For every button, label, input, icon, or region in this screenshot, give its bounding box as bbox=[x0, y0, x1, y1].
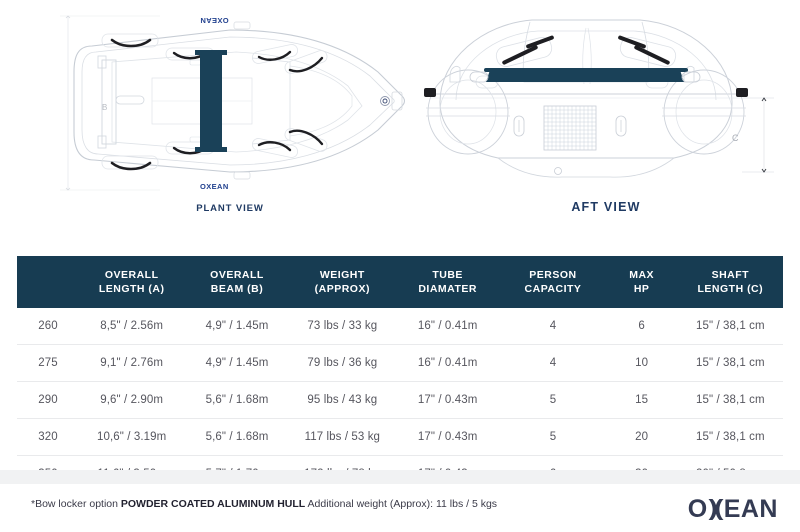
cell-weight: 95 lbs / 43 kg bbox=[290, 382, 395, 419]
cell-model: 260 bbox=[17, 308, 79, 345]
cell-person-capacity: 5 bbox=[500, 419, 605, 456]
cell-overall-length: 8,5" / 2.56m bbox=[79, 308, 184, 345]
aft-view-drawing: AFT VIEW bbox=[412, 0, 800, 240]
footer-note-suffix: Additional weight (Approx): 11 lbs / 5 k… bbox=[305, 498, 497, 510]
tube-logo-top-text: OXEAN bbox=[200, 16, 229, 25]
cell-shaft-length: 15" / 38,1 cm bbox=[678, 419, 783, 456]
footer-note: *Bow locker option POWDER COATED ALUMINU… bbox=[31, 497, 497, 513]
plant-view-caption: PLANT VIEW bbox=[40, 203, 420, 214]
dimension-label-b: B bbox=[102, 103, 107, 112]
brand-logo-ean: EAN bbox=[724, 497, 778, 522]
specifications-table: OVERALL LENGTH (A) OVERALL BEAM (B) WEIG… bbox=[17, 256, 783, 493]
cell-tube-diameter: 16" / 0.41m bbox=[395, 308, 500, 345]
column-header-person-capacity: PERSON CAPACITY bbox=[500, 256, 605, 308]
header-line-1: OVERALL bbox=[81, 268, 182, 282]
header-line-1: TUBE bbox=[397, 268, 498, 282]
cell-person-capacity: 5 bbox=[500, 382, 605, 419]
cell-shaft-length: 15" / 38,1 cm bbox=[678, 308, 783, 345]
column-header-shaft-length: SHAFT LENGTH (C) bbox=[678, 256, 783, 308]
header-line-2: BEAM (B) bbox=[186, 282, 287, 296]
table-header: OVERALL LENGTH (A) OVERALL BEAM (B) WEIG… bbox=[17, 256, 783, 308]
footer-note-prefix: *Bow locker option bbox=[31, 498, 121, 510]
brand-logo-x-icon bbox=[707, 497, 725, 522]
table-body: 260 8,5" / 2.56m 4,9" / 1.45m 73 lbs / 3… bbox=[17, 308, 783, 493]
header-line-2: CAPACITY bbox=[502, 282, 603, 296]
header-line-2: LENGTH (C) bbox=[680, 282, 781, 296]
cell-model: 320 bbox=[17, 419, 79, 456]
cell-model: 290 bbox=[17, 382, 79, 419]
cell-weight: 117 lbs / 53 kg bbox=[290, 419, 395, 456]
header-line-2: (APPROX) bbox=[292, 282, 393, 296]
cell-tube-diameter: 17" / 0.43m bbox=[395, 382, 500, 419]
cell-max-hp: 6 bbox=[606, 308, 678, 345]
column-header-overall-length: OVERALL LENGTH (A) bbox=[79, 256, 184, 308]
cell-overall-length: 9,6" / 2.90m bbox=[79, 382, 184, 419]
cell-max-hp: 15 bbox=[606, 382, 678, 419]
header-line-1: MAX bbox=[608, 268, 676, 282]
tube-logo-bottom-text: OXEAN bbox=[200, 182, 229, 191]
cell-weight: 79 lbs / 36 kg bbox=[290, 345, 395, 382]
column-header-max-hp: MAX HP bbox=[606, 256, 678, 308]
specifications-table-wrapper: OVERALL LENGTH (A) OVERALL BEAM (B) WEIG… bbox=[17, 256, 783, 493]
column-header-weight: WEIGHT (APPROX) bbox=[290, 256, 395, 308]
header-line-2: DIAMATER bbox=[397, 282, 498, 296]
cell-overall-beam: 5,6" / 1.68m bbox=[184, 382, 289, 419]
header-line-1: WEIGHT bbox=[292, 268, 393, 282]
cell-overall-beam: 5,6" / 1.68m bbox=[184, 419, 289, 456]
cell-weight: 73 lbs / 33 kg bbox=[290, 308, 395, 345]
technical-drawings-area: B OXEAN OXEAN PLANT VIEW bbox=[0, 0, 800, 240]
cell-max-hp: 10 bbox=[606, 345, 678, 382]
table-row: 320 10,6" / 3.19m 5,6" / 1.68m 117 lbs /… bbox=[17, 419, 783, 456]
cell-overall-beam: 4,9" / 1.45m bbox=[184, 345, 289, 382]
header-line-2: HP bbox=[608, 282, 676, 296]
aft-grab-handles bbox=[424, 36, 748, 97]
aft-seat-bar bbox=[484, 68, 688, 82]
cell-shaft-length: 15" / 38,1 cm bbox=[678, 345, 783, 382]
cell-person-capacity: 4 bbox=[500, 345, 605, 382]
brand-logo-o: O bbox=[688, 497, 708, 522]
header-line-1: PERSON bbox=[502, 268, 603, 282]
tube-logo-bottom: OXEAN bbox=[200, 182, 229, 191]
header-line-2: LENGTH (A) bbox=[81, 282, 182, 296]
dimension-label-c: C bbox=[732, 133, 739, 143]
table-row: 275 9,1" / 2.76m 4,9" / 1.45m 79 lbs / 3… bbox=[17, 345, 783, 382]
header-line-1: OVERALL bbox=[186, 268, 287, 282]
column-header-overall-beam: OVERALL BEAM (B) bbox=[184, 256, 289, 308]
column-header-tube-diameter: TUBE DIAMATER bbox=[395, 256, 500, 308]
cell-tube-diameter: 17" / 0.43m bbox=[395, 419, 500, 456]
footer-note-bold: POWDER COATED ALUMINUM HULL bbox=[121, 498, 305, 510]
aft-view-caption: AFT VIEW bbox=[412, 200, 800, 214]
aft-view-svg bbox=[412, 0, 800, 200]
brand-logo: O EAN bbox=[688, 497, 778, 522]
column-header-model bbox=[17, 256, 79, 308]
table-row: 260 8,5" / 2.56m 4,9" / 1.45m 73 lbs / 3… bbox=[17, 308, 783, 345]
cell-overall-length: 9,1" / 2.76m bbox=[79, 345, 184, 382]
x-bowtie-glyph bbox=[707, 497, 725, 522]
cell-person-capacity: 4 bbox=[500, 308, 605, 345]
cell-shaft-length: 15" / 38,1 cm bbox=[678, 382, 783, 419]
table-row: 290 9,6" / 2.90m 5,6" / 1.68m 95 lbs / 4… bbox=[17, 382, 783, 419]
cell-max-hp: 20 bbox=[606, 419, 678, 456]
plant-view-drawing: B OXEAN OXEAN PLANT VIEW bbox=[40, 0, 420, 240]
cell-overall-length: 10,6" / 3.19m bbox=[79, 419, 184, 456]
footer: *Bow locker option POWDER COATED ALUMINU… bbox=[0, 484, 800, 532]
cell-tube-diameter: 16" / 0.41m bbox=[395, 345, 500, 382]
footer-divider-band bbox=[0, 470, 800, 484]
tube-logo-top: OXEAN bbox=[200, 16, 229, 25]
header-line-1: SHAFT bbox=[680, 268, 781, 282]
plant-view-svg bbox=[40, 0, 420, 200]
cell-model: 275 bbox=[17, 345, 79, 382]
cell-overall-beam: 4,9" / 1.45m bbox=[184, 308, 289, 345]
table-header-row: OVERALL LENGTH (A) OVERALL BEAM (B) WEIG… bbox=[17, 256, 783, 308]
